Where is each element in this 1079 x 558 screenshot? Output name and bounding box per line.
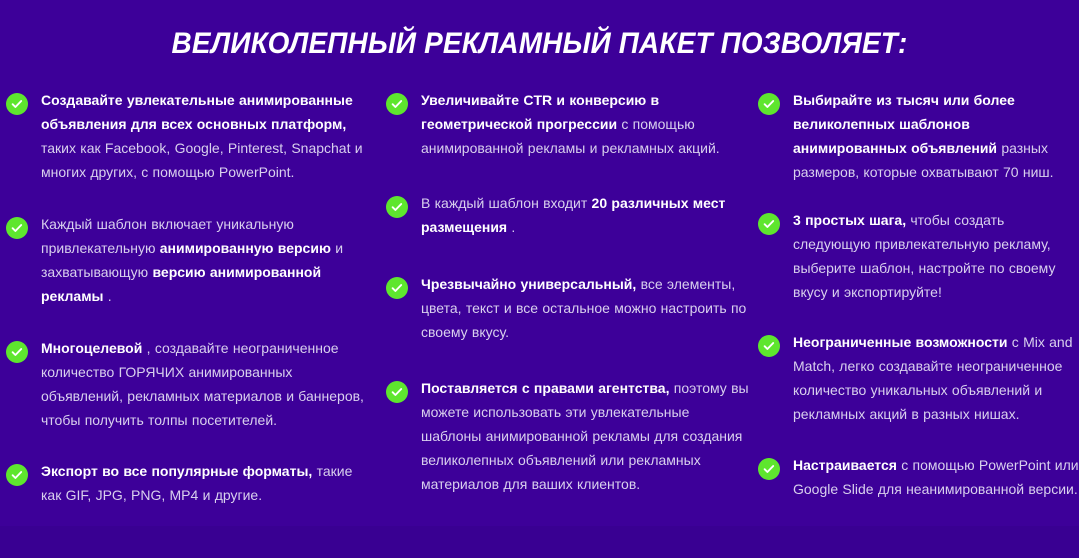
check-circle-icon — [758, 335, 780, 357]
list-item: В каждый шаблон входит 20 различных мест… — [386, 191, 750, 239]
list-item-text: Экспорт во все популярные форматы, такие… — [28, 459, 375, 507]
list-item: Неограниченные возможности с Mix and Mat… — [758, 330, 1079, 426]
list-item-text: Неограниченные возможности с Mix and Mat… — [780, 330, 1079, 426]
list-item-text: Увеличивайте CTR и конверсию в геометрич… — [408, 88, 750, 160]
list-item: 3 простых шага, чтобы создать следующую … — [758, 208, 1079, 304]
text-emphasis: Выбирайте из тысяч или более великолепны… — [793, 92, 1015, 156]
text-emphasis: Настраивается — [793, 457, 897, 473]
text-emphasis: 3 простых шага, — [793, 212, 906, 228]
check-circle-icon — [758, 458, 780, 480]
list-item: Настраивается с помощью PowerPoint или G… — [758, 453, 1079, 501]
list-item-text: Каждый шаблон включает уникальную привле… — [28, 212, 375, 308]
check-circle-icon — [386, 381, 408, 403]
check-circle-icon — [6, 93, 28, 115]
text-emphasis: Неограниченные возможности — [793, 334, 1007, 350]
benefits-columns: Создавайте увлекательные анимированные о… — [0, 88, 1079, 507]
check-circle-icon — [6, 217, 28, 239]
list-item: Создавайте увлекательные анимированные о… — [6, 88, 375, 184]
text-emphasis: Экспорт во все популярные форматы, — [41, 463, 312, 479]
text-emphasis: Поставляется с правами агентства, — [421, 380, 669, 396]
text-emphasis: Создавайте увлекательные анимированные о… — [41, 92, 353, 132]
list-item-text: Поставляется с правами агентства, поэтом… — [408, 376, 750, 496]
text-emphasis: Многоцелевой — [41, 340, 142, 356]
check-circle-icon — [6, 464, 28, 486]
check-circle-icon — [386, 277, 408, 299]
text-plain: таких как Facebook, Google, Pinterest, S… — [41, 140, 363, 180]
list-item-text: Чрезвычайно универсальный, все элементы,… — [408, 272, 750, 344]
text-plain: . — [104, 288, 112, 304]
list-item: Многоцелевой , создавайте неограниченное… — [6, 336, 375, 432]
page-title: ВЕЛИКОЛЕПНЫЙ РЕКЛАМНЫЙ ПАКЕТ ПОЗВОЛЯЕТ: — [38, 0, 1041, 61]
list-item: Каждый шаблон включает уникальную привле… — [6, 212, 375, 308]
list-item-text: Настраивается с помощью PowerPoint или G… — [780, 453, 1079, 501]
text-plain: поэтому вы можете использовать эти увлек… — [421, 380, 749, 492]
list-item: Выбирайте из тысяч или более великолепны… — [758, 88, 1079, 184]
check-circle-icon — [758, 93, 780, 115]
list-item-text: Многоцелевой , создавайте неограниченное… — [28, 336, 375, 432]
list-item: Чрезвычайно универсальный, все элементы,… — [386, 272, 750, 344]
check-circle-icon — [386, 196, 408, 218]
bottom-band — [0, 526, 1079, 558]
text-plain: . — [507, 219, 515, 235]
text-emphasis: анимированную версию — [160, 240, 331, 256]
list-item: Поставляется с правами агентства, поэтом… — [386, 376, 750, 496]
check-circle-icon — [386, 93, 408, 115]
benefits-column-1: Создавайте увлекательные анимированные о… — [0, 88, 375, 507]
list-item-text: В каждый шаблон входит 20 различных мест… — [408, 191, 750, 239]
text-emphasis: Чрезвычайно универсальный, — [421, 276, 636, 292]
check-circle-icon — [758, 213, 780, 235]
benefits-column-2: Увеличивайте CTR и конверсию в геометрич… — [375, 88, 750, 496]
list-item-text: 3 простых шага, чтобы создать следующую … — [780, 208, 1079, 304]
benefits-column-3: Выбирайте из тысяч или более великолепны… — [750, 88, 1079, 501]
text-plain: В каждый шаблон входит — [421, 195, 592, 211]
list-item: Увеличивайте CTR и конверсию в геометрич… — [386, 88, 750, 160]
list-item-text: Создавайте увлекательные анимированные о… — [28, 88, 375, 184]
list-item-text: Выбирайте из тысяч или более великолепны… — [780, 88, 1079, 184]
list-item: Экспорт во все популярные форматы, такие… — [6, 459, 375, 507]
check-circle-icon — [6, 341, 28, 363]
